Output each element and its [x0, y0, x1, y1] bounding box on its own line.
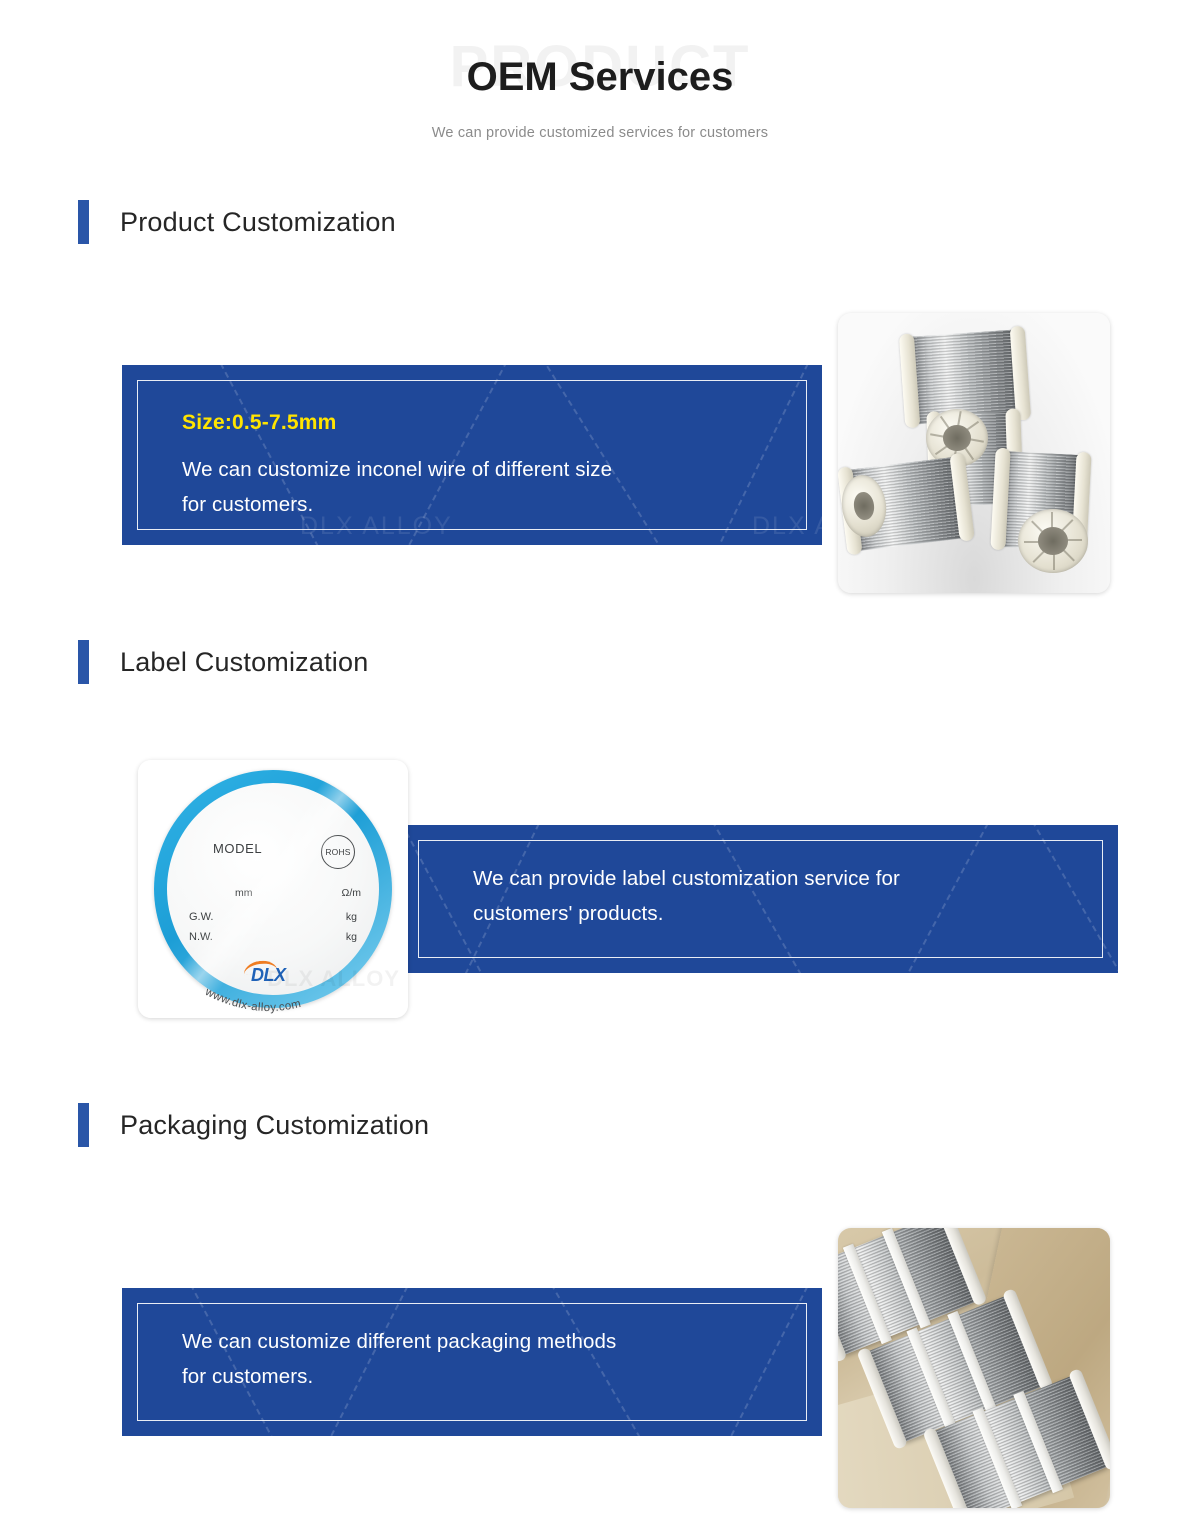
carton-packaging-photo: [838, 1228, 1110, 1508]
page-title: OEM Services: [0, 55, 1200, 99]
label-unit-kg-gross: kg: [346, 911, 357, 923]
spool-hub-right: [1018, 509, 1088, 573]
page-header: PRODUCT OEM Services We can provide cust…: [0, 0, 1200, 165]
section-title-label-customization: Label Customization: [120, 647, 368, 678]
label-field-net-weight: N.W.: [189, 931, 213, 943]
section-title-packaging-customization: Packaging Customization: [120, 1110, 429, 1141]
round-product-label-photo: MODEL ROHS mm Ω/m G.W. kg N.W. kg DLX ww…: [138, 760, 408, 1018]
panel-watermark-label: DLX ALLOY: [752, 512, 822, 541]
label-watermark: DLX ALLOY: [267, 966, 400, 992]
wire-spools-photo: [838, 313, 1110, 593]
info-panel-product-customization: DLX ALLOY DLX ALLOY Size:0.5-7.5mm We ca…: [122, 365, 822, 545]
heading-accent-bar-icon: [78, 640, 89, 684]
label-field-model: MODEL: [213, 841, 262, 856]
panel-size-label: Size:0.5-7.5mm: [182, 411, 612, 435]
carton-packaging-image: [838, 1228, 1110, 1508]
panel-body-line-2: for customers.: [182, 487, 612, 522]
label-face: MODEL ROHS mm Ω/m G.W. kg N.W. kg DLX ww…: [167, 783, 379, 995]
panel-body-line-1: We can customize different packaging met…: [182, 1324, 616, 1359]
section-heading-packaging-customization: Packaging Customization: [78, 1103, 429, 1147]
label-unit-mm: mm: [235, 887, 253, 899]
oem-services-page: PRODUCT OEM Services We can provide cust…: [0, 0, 1200, 1525]
label-field-gross-weight: G.W.: [189, 911, 213, 923]
section-title-product-customization: Product Customization: [120, 207, 396, 238]
section-heading-label-customization: Label Customization: [78, 640, 368, 684]
panel-body-line-1: We can provide label customization servi…: [473, 861, 900, 896]
page-subtitle: We can provide customized services for c…: [0, 125, 1200, 141]
panel-copy-label: We can provide label customization servi…: [473, 861, 900, 932]
panel-body-line-1: We can customize inconel wire of differe…: [182, 452, 612, 487]
product-label-image: MODEL ROHS mm Ω/m G.W. kg N.W. kg DLX ww…: [138, 760, 408, 1018]
label-unit-ohm-per-m: Ω/m: [341, 887, 361, 899]
section-heading-product-customization: Product Customization: [78, 200, 396, 244]
panel-copy-product: Size:0.5-7.5mm We can customize inconel …: [182, 411, 612, 523]
info-panel-label-customization: We can provide label customization servi…: [403, 825, 1118, 973]
wire-spools-image: [838, 313, 1110, 593]
heading-accent-bar-icon: [78, 1103, 89, 1147]
heading-accent-bar-icon: [78, 200, 89, 244]
panel-body-line-2: customers' products.: [473, 896, 900, 931]
panel-body-line-2: for customers.: [182, 1359, 616, 1394]
info-panel-packaging-customization: We can customize different packaging met…: [122, 1288, 822, 1436]
panel-copy-packaging: We can customize different packaging met…: [182, 1324, 616, 1395]
rohs-badge-icon: ROHS: [321, 835, 355, 869]
label-unit-kg-net: kg: [346, 931, 357, 943]
